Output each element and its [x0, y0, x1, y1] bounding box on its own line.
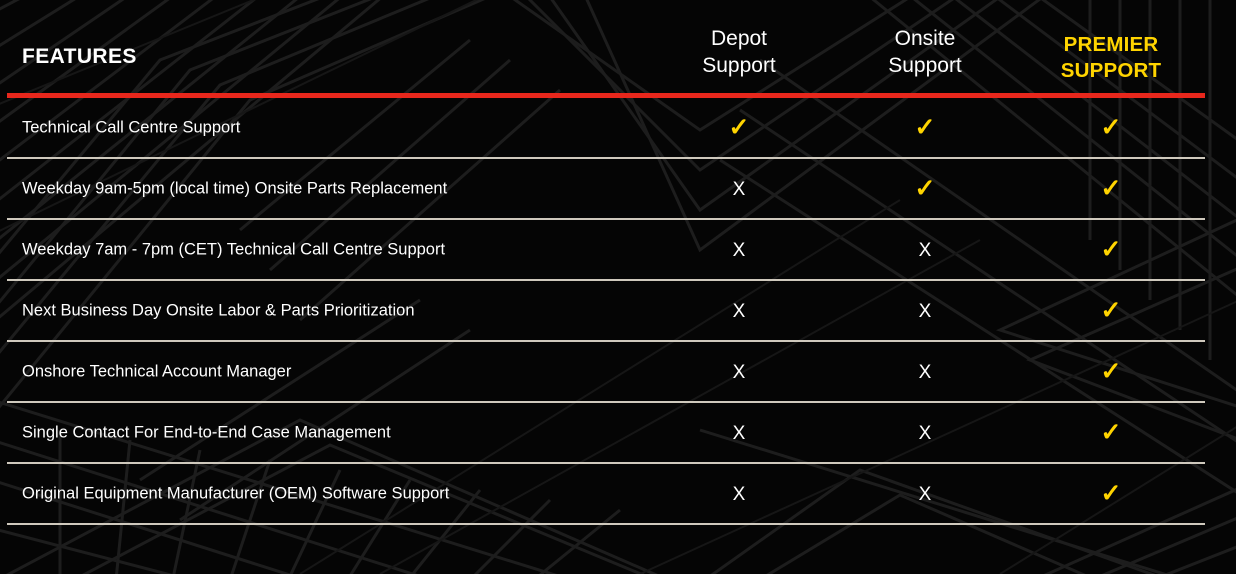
cell-depot: X	[644, 484, 834, 504]
cell-depot: ✓	[644, 115, 834, 140]
cross-icon: X	[919, 362, 932, 383]
check-icon: ✓	[1101, 296, 1122, 324]
column-header-premier-line2: SUPPORT	[1016, 58, 1206, 84]
table-row: Weekday 9am-5pm (local time) Onsite Part…	[0, 159, 1236, 218]
cross-icon: X	[733, 484, 746, 505]
cell-depot: X	[644, 301, 834, 321]
feature-comparison-table: FEATURES Depot Support Onsite Support PR…	[0, 0, 1236, 574]
column-header-depot-line2: Support	[644, 53, 834, 80]
feature-label: Original Equipment Manufacturer (OEM) So…	[22, 484, 449, 503]
cell-depot: X	[644, 240, 834, 260]
feature-label: Weekday 7am - 7pm (CET) Technical Call C…	[22, 240, 445, 259]
table-row: Onshore Technical Account ManagerXX✓	[0, 342, 1236, 401]
cell-onsite: X	[830, 301, 1020, 321]
cell-depot: X	[644, 423, 834, 443]
cell-onsite: X	[830, 484, 1020, 504]
cell-depot: X	[644, 179, 834, 199]
cell-onsite: ✓	[830, 115, 1020, 140]
feature-label: Single Contact For End-to-End Case Manag…	[22, 423, 391, 442]
cell-premier: ✓	[1016, 298, 1206, 323]
cell-premier: ✓	[1016, 237, 1206, 262]
feature-label: Technical Call Centre Support	[22, 118, 240, 137]
comparison-table-slide: FEATURES Depot Support Onsite Support PR…	[0, 0, 1236, 574]
check-icon: ✓	[1101, 174, 1122, 202]
cross-icon: X	[919, 240, 932, 261]
column-header-onsite: Onsite Support	[830, 26, 1020, 80]
check-icon: ✓	[1101, 418, 1122, 446]
column-header-depot-line1: Depot	[711, 27, 767, 50]
table-row: Single Contact For End-to-End Case Manag…	[0, 403, 1236, 462]
check-icon: ✓	[915, 174, 936, 202]
feature-label: Weekday 9am-5pm (local time) Onsite Part…	[22, 179, 447, 198]
column-header-depot: Depot Support	[644, 26, 834, 80]
table-header-row: FEATURES Depot Support Onsite Support PR…	[0, 0, 1236, 96]
table-row: Next Business Day Onsite Labor & Parts P…	[0, 281, 1236, 340]
cell-premier: ✓	[1016, 176, 1206, 201]
check-icon: ✓	[1101, 113, 1122, 141]
features-column-header: FEATURES	[22, 45, 137, 69]
feature-label: Next Business Day Onsite Labor & Parts P…	[22, 301, 415, 320]
cross-icon: X	[733, 301, 746, 322]
cross-icon: X	[919, 301, 932, 322]
cell-onsite: X	[830, 423, 1020, 443]
cross-icon: X	[733, 240, 746, 261]
cross-icon: X	[733, 362, 746, 383]
cross-icon: X	[919, 484, 932, 505]
cell-onsite: X	[830, 240, 1020, 260]
cell-premier: ✓	[1016, 359, 1206, 384]
column-header-premier-line1: PREMIER	[1064, 33, 1159, 56]
cross-icon: X	[919, 423, 932, 444]
column-header-onsite-line2: Support	[830, 53, 1020, 80]
check-icon: ✓	[729, 113, 750, 141]
cell-onsite: ✓	[830, 176, 1020, 201]
table-row: Technical Call Centre Support✓✓✓	[0, 98, 1236, 157]
feature-label: Onshore Technical Account Manager	[22, 362, 291, 381]
cell-onsite: X	[830, 362, 1020, 382]
column-header-onsite-line1: Onsite	[895, 27, 956, 50]
check-icon: ✓	[915, 113, 936, 141]
cross-icon: X	[733, 179, 746, 200]
cell-premier: ✓	[1016, 115, 1206, 140]
cell-premier: ✓	[1016, 481, 1206, 506]
row-divider	[7, 523, 1205, 525]
table-row: Weekday 7am - 7pm (CET) Technical Call C…	[0, 220, 1236, 279]
cross-icon: X	[733, 423, 746, 444]
table-row: Original Equipment Manufacturer (OEM) So…	[0, 464, 1236, 523]
check-icon: ✓	[1101, 479, 1122, 507]
cell-depot: X	[644, 362, 834, 382]
check-icon: ✓	[1101, 357, 1122, 385]
column-header-premier: PREMIER SUPPORT	[1016, 32, 1206, 84]
check-icon: ✓	[1101, 235, 1122, 263]
cell-premier: ✓	[1016, 420, 1206, 445]
